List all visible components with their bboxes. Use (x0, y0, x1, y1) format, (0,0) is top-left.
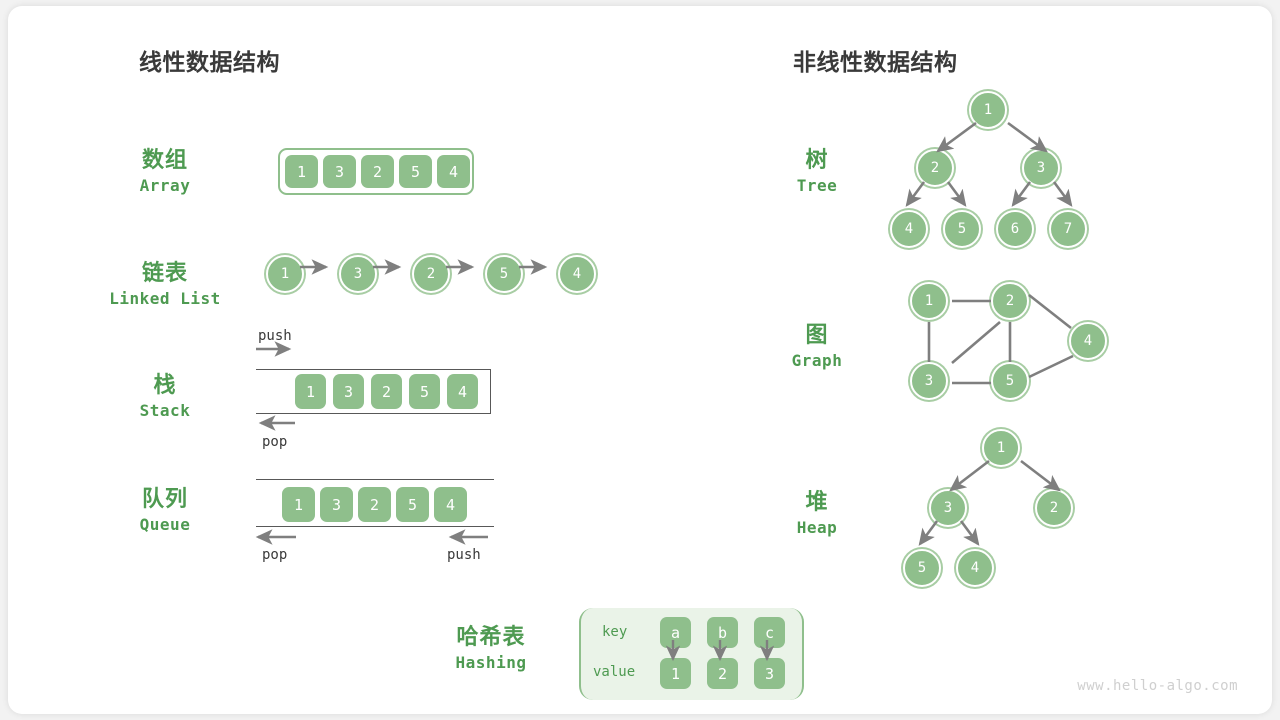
label-tree: 树 Tree (722, 146, 912, 198)
stack-cell: 1 (295, 374, 326, 409)
label-queue: 队列 Queue (70, 485, 260, 537)
hash-value-cell: 2 (707, 658, 738, 689)
linked-list-node: 3 (339, 255, 377, 293)
array-cell: 4 (437, 155, 470, 188)
diagram-card: 线性数据结构 非线性数据结构 数组 Array 1 3 2 5 4 链表 Lin… (8, 6, 1272, 714)
stack-cell: 4 (447, 374, 478, 409)
label-array: 数组 Array (70, 146, 260, 198)
stack-container: 1 3 2 5 4 (256, 369, 491, 414)
heap-node: 1 (982, 429, 1020, 467)
label-tree-cn: 树 (722, 146, 912, 174)
hash-key-row-label: key (602, 624, 627, 640)
label-linked-list-cn: 链表 (70, 259, 260, 287)
heading-linear-structures: 线性数据结构 (139, 43, 280, 77)
hash-value-row-label: value (593, 664, 635, 680)
array-cell: 1 (285, 155, 318, 188)
label-heap-cn: 堆 (722, 488, 912, 516)
label-stack-cn: 栈 (70, 371, 260, 399)
graph-node: 2 (991, 282, 1029, 320)
stack-push-label: push (258, 328, 292, 344)
tree-node: 7 (1049, 210, 1087, 248)
stack-cell: 2 (371, 374, 402, 409)
queue-cell: 3 (320, 487, 353, 522)
queue-rail-bottom (256, 526, 494, 527)
tree-node: 6 (996, 210, 1034, 248)
linked-list-node: 2 (412, 255, 450, 293)
label-hashing: 哈希表 Hashing (396, 623, 586, 675)
array-cell: 3 (323, 155, 356, 188)
hash-key-cell: c (754, 617, 785, 648)
linked-list-node: 1 (266, 255, 304, 293)
label-graph-cn: 图 (722, 321, 912, 349)
label-stack: 栈 Stack (70, 371, 260, 423)
label-array-cn: 数组 (70, 146, 260, 174)
queue-rail-top (256, 479, 494, 480)
tree-node: 5 (943, 210, 981, 248)
queue-cell: 4 (434, 487, 467, 522)
hash-value-cell: 1 (660, 658, 691, 689)
tree-node: 1 (969, 91, 1007, 129)
heap-node: 3 (929, 489, 967, 527)
graph-node: 1 (910, 282, 948, 320)
label-hashing-en: Hashing (396, 651, 586, 675)
graph-node: 3 (910, 362, 948, 400)
label-hashing-cn: 哈希表 (396, 623, 586, 651)
array-cell: 5 (399, 155, 432, 188)
heading-nonlinear-structures: 非线性数据结构 (793, 43, 958, 77)
graph-node: 4 (1069, 322, 1107, 360)
queue-cell: 5 (396, 487, 429, 522)
tree-node: 3 (1022, 149, 1060, 187)
stack-pop-label: pop (262, 434, 287, 450)
linked-list-node: 5 (485, 255, 523, 293)
linked-list-node: 4 (558, 255, 596, 293)
label-queue-en: Queue (70, 513, 260, 537)
tree-node: 4 (890, 210, 928, 248)
graph-node: 5 (991, 362, 1029, 400)
hash-key-cell: b (707, 617, 738, 648)
hash-key-cell: a (660, 617, 691, 648)
array-cell: 2 (361, 155, 394, 188)
queue-cell: 1 (282, 487, 315, 522)
label-array-en: Array (70, 174, 260, 198)
label-heap: 堆 Heap (722, 488, 912, 540)
label-linked-list: 链表 Linked List (70, 259, 260, 311)
heap-node: 2 (1035, 489, 1073, 527)
tree-node: 2 (916, 149, 954, 187)
label-heap-en: Heap (722, 516, 912, 540)
label-queue-cn: 队列 (70, 485, 260, 513)
label-tree-en: Tree (722, 174, 912, 198)
label-linked-list-en: Linked List (70, 287, 260, 311)
page-canvas: 线性数据结构 非线性数据结构 数组 Array 1 3 2 5 4 链表 Lin… (0, 0, 1280, 720)
hash-table-container: key value a b c 1 2 3 (579, 608, 804, 700)
label-stack-en: Stack (70, 399, 260, 423)
stack-cell: 5 (409, 374, 440, 409)
heap-node: 4 (956, 549, 994, 587)
hash-value-cell: 3 (754, 658, 785, 689)
watermark-url: www.hello-algo.com (1077, 678, 1238, 694)
stack-cell: 3 (333, 374, 364, 409)
label-graph-en: Graph (722, 349, 912, 373)
queue-cell: 2 (358, 487, 391, 522)
heap-node: 5 (903, 549, 941, 587)
label-graph: 图 Graph (722, 321, 912, 373)
array-container: 1 3 2 5 4 (278, 148, 474, 195)
queue-push-label: push (447, 547, 481, 563)
queue-pop-label: pop (262, 547, 287, 563)
